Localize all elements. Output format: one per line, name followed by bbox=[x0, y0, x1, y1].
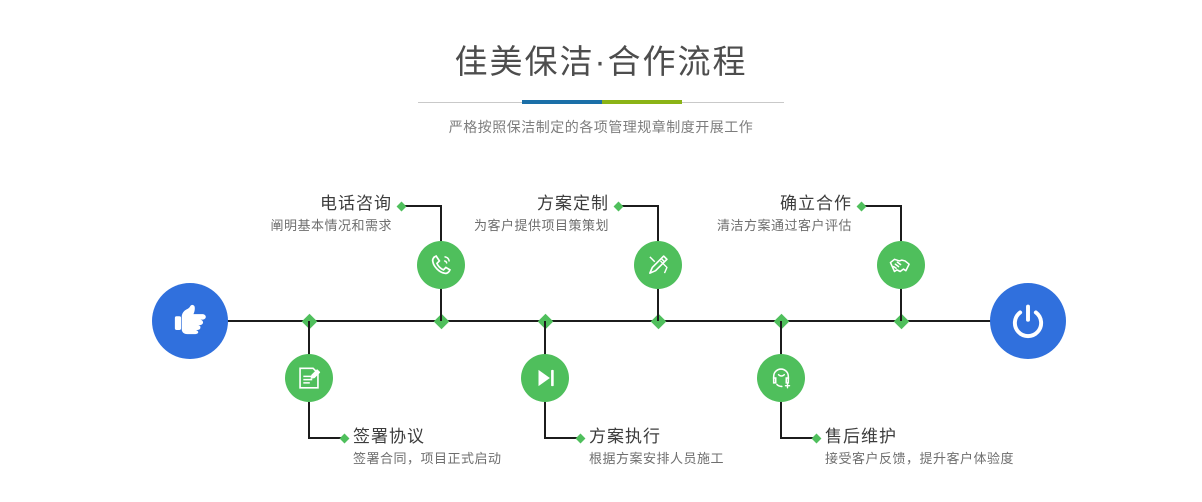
stem-1-upper bbox=[308, 321, 310, 356]
badge-6[interactable] bbox=[877, 241, 925, 289]
stem-2-lower bbox=[440, 288, 442, 321]
stem-5-upper bbox=[780, 321, 782, 356]
stem-5-lower bbox=[780, 402, 782, 438]
step-title-5: 售后维护 bbox=[825, 426, 1014, 448]
stem-6-lower bbox=[900, 288, 902, 321]
document-edit-icon bbox=[296, 365, 322, 391]
badge-1[interactable] bbox=[285, 354, 333, 402]
step-title-6: 确立合作 bbox=[470, 193, 852, 215]
badge-4[interactable] bbox=[634, 241, 682, 289]
step-desc-1: 签署合同，项目正式启动 bbox=[353, 449, 502, 468]
step-title-1: 签署协议 bbox=[353, 426, 502, 448]
label-marker-3 bbox=[576, 433, 586, 443]
badge-5[interactable] bbox=[757, 354, 805, 402]
step-label-3: 方案执行 根据方案安排人员施工 bbox=[589, 426, 724, 468]
handshake-icon bbox=[888, 252, 914, 278]
elbow-6 bbox=[864, 205, 902, 207]
power-icon bbox=[1007, 300, 1049, 342]
headset-support-icon bbox=[768, 365, 794, 391]
process-timeline: 签署协议 签署合同，项目正式启动 电话咨询 阐明基本情况和需求 bbox=[0, 0, 1202, 502]
step-desc-5: 接受客户反馈，提升客户体验度 bbox=[825, 449, 1014, 468]
stem-4-lower bbox=[657, 288, 659, 321]
play-forward-icon bbox=[532, 365, 558, 391]
stem-3-lower bbox=[544, 402, 546, 438]
step-title-3: 方案执行 bbox=[589, 426, 724, 448]
flow-start-node[interactable] bbox=[152, 283, 228, 359]
step-label-1: 签署协议 签署合同，项目正式启动 bbox=[353, 426, 502, 468]
stem-6-upper bbox=[900, 206, 902, 241]
phone-call-icon bbox=[428, 252, 454, 278]
stem-1-lower bbox=[308, 402, 310, 438]
step-desc-3: 根据方案安排人员施工 bbox=[589, 449, 724, 468]
step-label-5: 售后维护 接受客户反馈，提升客户体验度 bbox=[825, 426, 1014, 468]
pencil-ruler-icon bbox=[645, 252, 671, 278]
step-label-6: 确立合作 清洁方案通过客户评估 bbox=[470, 193, 852, 235]
label-marker-5 bbox=[812, 433, 822, 443]
step-desc-6: 清洁方案通过客户评估 bbox=[470, 216, 852, 235]
stem-3-upper bbox=[544, 321, 546, 356]
flow-end-node[interactable] bbox=[990, 283, 1066, 359]
pointing-hand-icon bbox=[168, 299, 212, 343]
badge-3[interactable] bbox=[521, 354, 569, 402]
label-marker-6 bbox=[857, 201, 867, 211]
badge-2[interactable] bbox=[417, 241, 465, 289]
flow-infographic: 佳美保洁·合作流程 严格按照保洁制定的各项管理规章制度开展工作 bbox=[0, 0, 1202, 502]
label-marker-1 bbox=[340, 433, 350, 443]
